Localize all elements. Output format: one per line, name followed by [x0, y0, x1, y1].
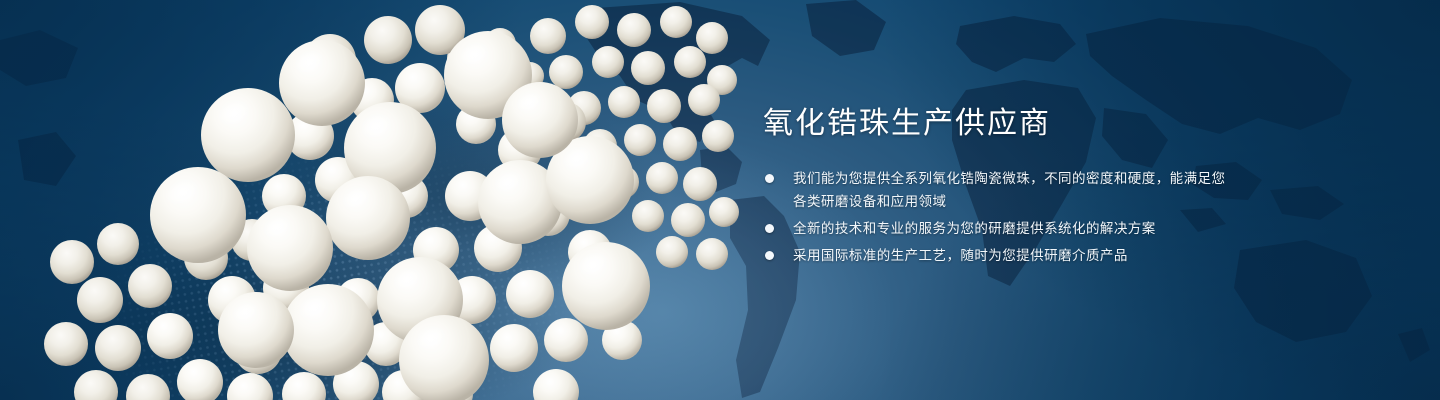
- feature-text: 全新的技术和专业的服务为您的研磨提供系统化的解决方案: [793, 217, 1233, 240]
- bullet-dot-icon: [765, 251, 774, 260]
- banner-copy: 氧化锆珠生产供应商 我们能为您提供全系列氧化锆陶瓷微珠，不同的密度和硬度，能满足…: [763, 104, 1233, 267]
- feature-list-item: 全新的技术和专业的服务为您的研磨提供系统化的解决方案: [763, 217, 1233, 240]
- feature-text: 我们能为您提供全系列氧化锆陶瓷微珠，不同的密度和硬度，能满足您各类研磨设备和应用…: [793, 167, 1233, 213]
- bullet-dot-icon: [765, 224, 774, 233]
- promotional-banner: 氧化锆珠生产供应商 我们能为您提供全系列氧化锆陶瓷微珠，不同的密度和硬度，能满足…: [0, 0, 1440, 400]
- feature-list-item: 我们能为您提供全系列氧化锆陶瓷微珠，不同的密度和硬度，能满足您各类研磨设备和应用…: [763, 167, 1233, 213]
- feature-text: 采用国际标准的生产工艺，随时为您提供研磨介质产品: [793, 244, 1233, 267]
- banner-headline: 氧化锆珠生产供应商: [763, 104, 1233, 144]
- feature-list-item: 采用国际标准的生产工艺，随时为您提供研磨介质产品: [763, 244, 1233, 267]
- bullet-dot-icon: [765, 174, 774, 183]
- feature-list: 我们能为您提供全系列氧化锆陶瓷微珠，不同的密度和硬度，能满足您各类研磨设备和应用…: [763, 167, 1233, 267]
